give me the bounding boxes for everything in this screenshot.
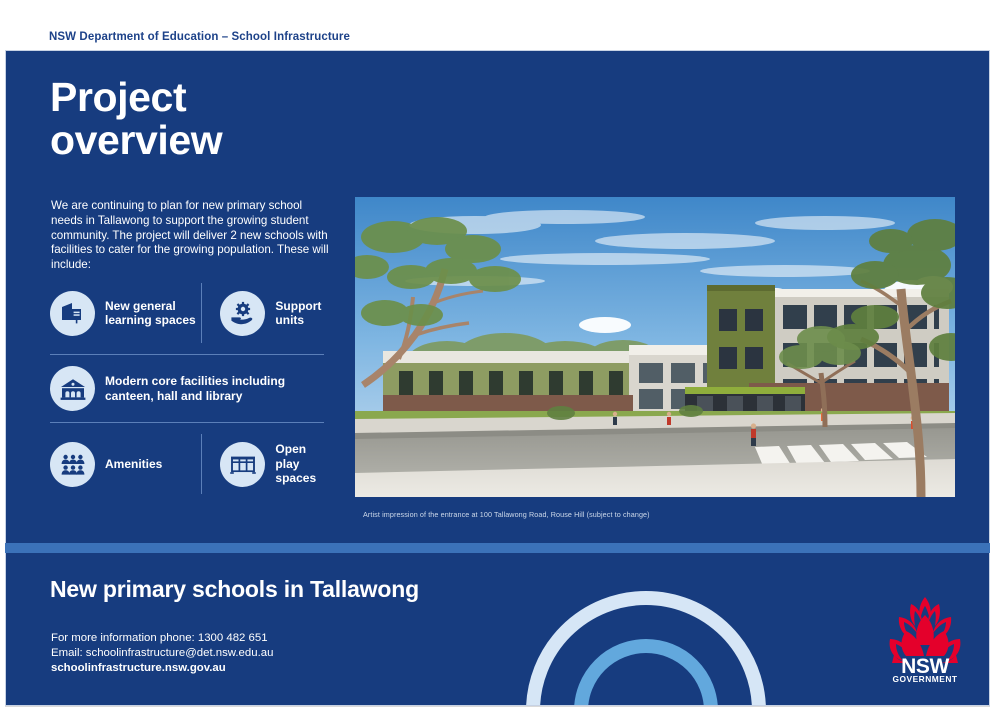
section-divider-band: [5, 543, 990, 553]
feature-row-2: Modern core facilities including canteen…: [50, 366, 330, 411]
people-group-icon: [50, 442, 95, 487]
footer-panel: New primary schools in Tallawong For mor…: [5, 553, 990, 706]
contact-details: For more information phone: 1300 482 651…: [51, 631, 273, 676]
render-caption: Artist impression of the entrance at 100…: [363, 510, 650, 519]
page-title: Project overview: [50, 76, 222, 162]
page-bottom-rule: [5, 706, 990, 707]
feature-label: Amenities: [95, 457, 162, 472]
feature-item-modern-core-facilities: Modern core facilities including canteen…: [50, 366, 330, 411]
project-overview-panel: Project overview We are continuing to pl…: [5, 50, 990, 543]
feature-label: Modern core facilities including canteen…: [95, 374, 330, 403]
civic-hall-icon: [50, 366, 95, 411]
shelter-pergola-icon: [220, 442, 265, 487]
feature-horizontal-divider-2: [50, 422, 324, 423]
waratah-icon: [890, 597, 961, 663]
feature-horizontal-divider-1: [50, 354, 324, 355]
intro-paragraph: We are continuing to plan for new primar…: [51, 199, 331, 273]
feature-label: Open play spaces: [265, 442, 330, 486]
feature-list: New general learning spaces: [50, 283, 330, 494]
contact-email[interactable]: Email: schoolinfrastructure@det.nsw.edu.…: [51, 646, 273, 661]
feature-item-support-units: Support units: [202, 291, 330, 336]
feature-item-new-general-learning-spaces: New general learning spaces: [50, 291, 201, 336]
organisation-line: NSW Department of Education – School Inf…: [49, 31, 350, 43]
feature-row-3: Amenities: [50, 434, 330, 494]
project-render-image: [355, 197, 955, 497]
feature-row-1: New general learning spaces: [50, 283, 330, 343]
government-wordmark: GOVERNMENT: [892, 674, 957, 683]
hand-gear-icon: [220, 291, 265, 336]
contact-website[interactable]: schoolinfrastructure.nsw.gov.au: [51, 661, 273, 676]
concentric-rings-decoration: [526, 591, 766, 706]
poster-page: NSW Department of Education – School Inf…: [0, 0, 1000, 712]
feature-label: New general learning spaces: [95, 299, 201, 328]
footer-title: New primary schools in Tallawong: [50, 576, 419, 603]
feature-item-amenities: Amenities: [50, 442, 201, 487]
page-title-line-1: Project: [50, 76, 222, 119]
feature-item-open-play-spaces: Open play spaces: [202, 442, 330, 487]
page-title-line-2: overview: [50, 119, 222, 162]
feature-label: Support units: [265, 299, 330, 328]
nsw-government-logo: NSW GOVERNMENT: [884, 593, 966, 683]
contact-phone: For more information phone: 1300 482 651: [51, 631, 273, 646]
classroom-building-icon: [50, 291, 95, 336]
header-strip: NSW Department of Education – School Inf…: [0, 0, 1000, 50]
